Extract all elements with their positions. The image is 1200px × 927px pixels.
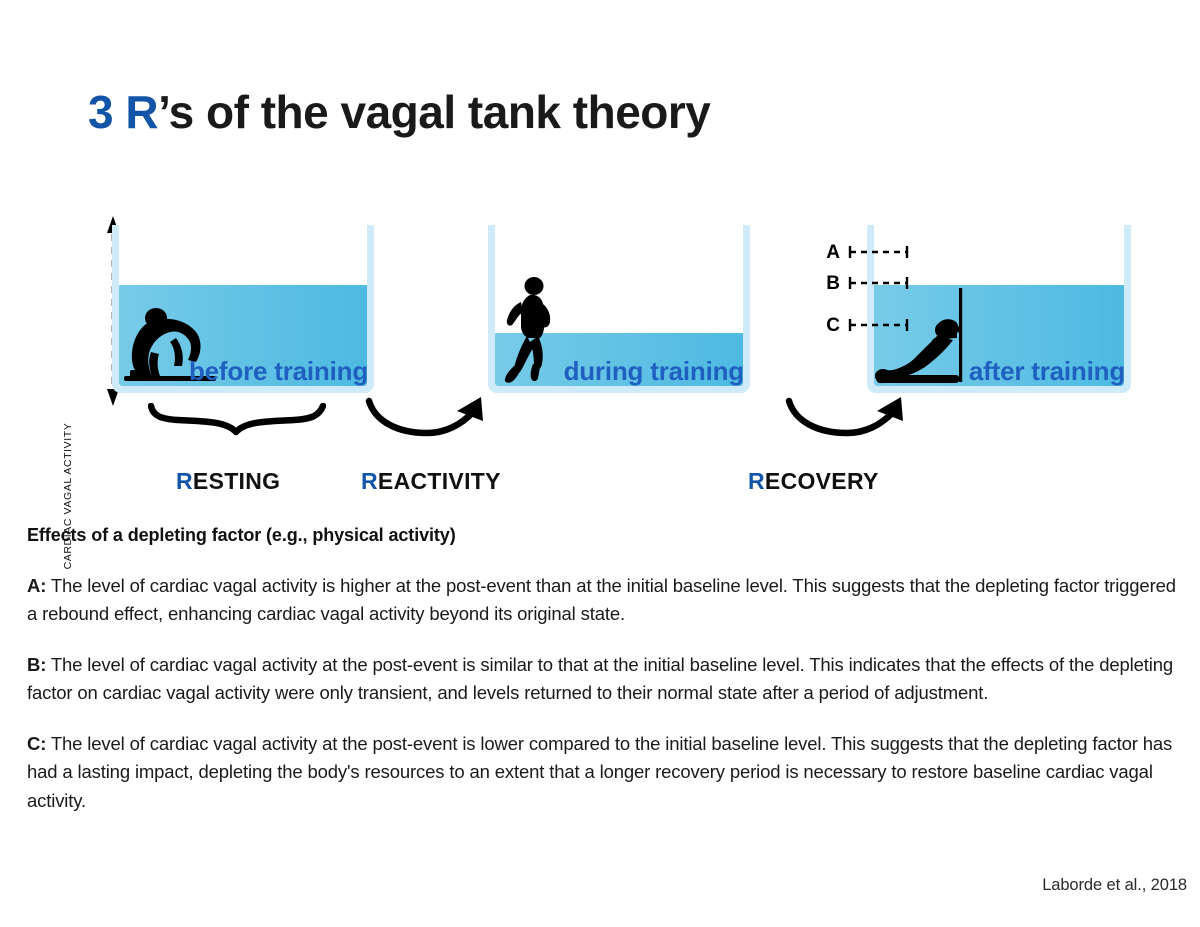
marker-c: C xyxy=(822,315,910,335)
marker-b: B xyxy=(822,273,910,293)
paragraph-b: B: The level of cardiac vagal activity a… xyxy=(27,651,1187,708)
curved-arrow-right-icon xyxy=(785,395,909,439)
paragraph-text: The level of cardiac vagal activity is h… xyxy=(27,575,1176,624)
tank-label: after training xyxy=(969,356,1125,387)
paragraph-lead: A: xyxy=(27,575,46,596)
tank-label: before training xyxy=(189,356,368,387)
tank-label: during training xyxy=(564,356,744,387)
paragraph-text: The level of cardiac vagal activity at t… xyxy=(27,654,1173,703)
paragraph-c: C: The level of cardiac vagal activity a… xyxy=(27,730,1187,815)
phase-label-accent: R xyxy=(361,468,378,494)
marker-letter: C xyxy=(822,316,840,335)
paragraph-lead: C: xyxy=(27,733,46,754)
marker-dashed-line-icon xyxy=(848,318,910,332)
phase-label-accent: R xyxy=(176,468,193,494)
section-heading: Effects of a depleting factor (e.g., phy… xyxy=(27,525,1187,546)
phase-label-rest: ECOVERY xyxy=(765,468,879,494)
page-title-rest: ’s of the vagal tank theory xyxy=(158,86,710,138)
vagal-tank-figure: CARDIAC VAGAL ACTIVITY before training xyxy=(0,200,1200,520)
page-title: 3 R’s of the vagal tank theory xyxy=(88,85,710,139)
phase-label-recovery: RECOVERY xyxy=(748,468,879,495)
phase-label-rest: ESTING xyxy=(193,468,280,494)
tank-during-training: during training xyxy=(488,225,750,393)
citation: Laborde et al., 2018 xyxy=(1042,876,1187,895)
marker-letter: B xyxy=(822,274,840,293)
marker-letter: A xyxy=(822,243,840,262)
curved-arrow-right-icon xyxy=(365,395,489,439)
runner-icon xyxy=(500,274,564,386)
tank-before-training: before training xyxy=(112,225,374,393)
paragraph-lead: B: xyxy=(27,654,46,675)
brace-down-icon xyxy=(148,403,326,437)
phase-label-rest: EACTIVITY xyxy=(378,468,501,494)
explanation-section: Effects of a depleting factor (e.g., phy… xyxy=(27,525,1187,837)
marker-dashed-line-icon xyxy=(848,276,910,290)
paragraph-text: The level of cardiac vagal activity at t… xyxy=(27,733,1172,811)
phase-label-resting: RESTING xyxy=(176,468,280,495)
phase-label-accent: R xyxy=(748,468,765,494)
phase-label-reactivity: REACTIVITY xyxy=(361,468,501,495)
marker-a: A xyxy=(822,242,910,262)
marker-dashed-line-icon xyxy=(848,245,910,259)
page-title-accent: 3 R xyxy=(88,86,158,138)
paragraph-a: A: The level of cardiac vagal activity i… xyxy=(27,572,1187,629)
